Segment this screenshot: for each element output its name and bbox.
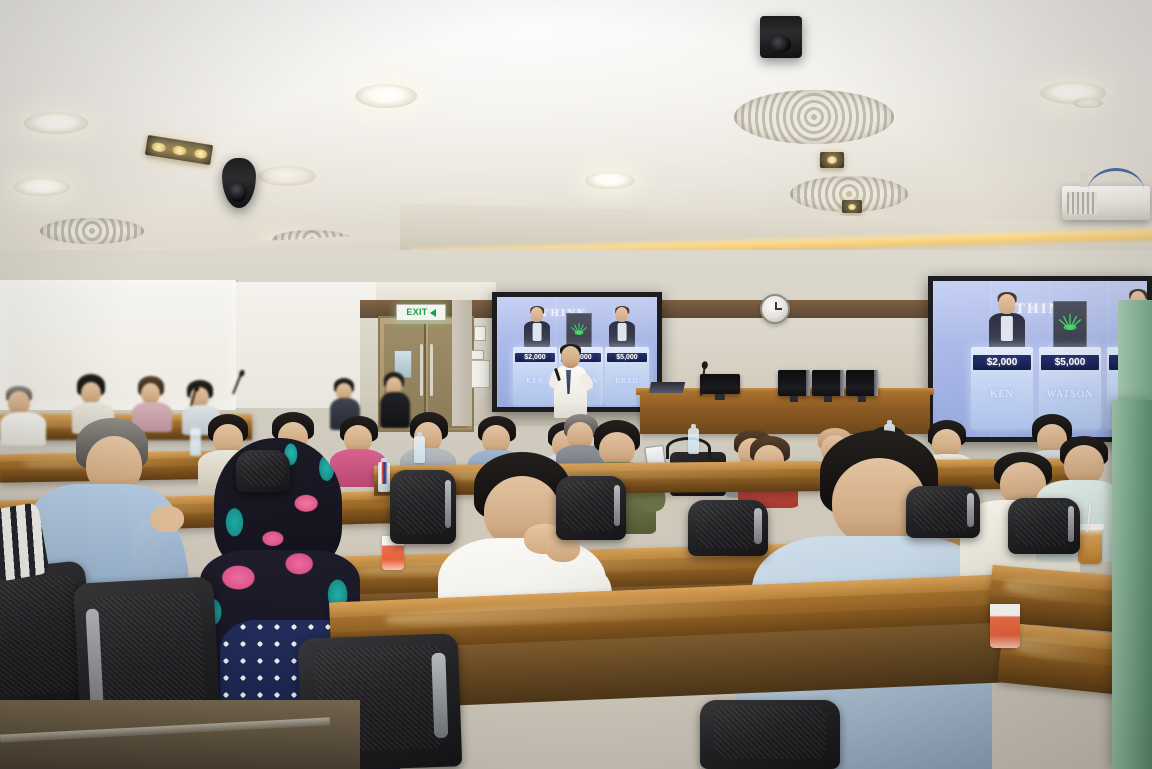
track-spotlight [842,200,862,213]
soda-can [378,462,388,484]
iced-coffee-cup [1078,528,1102,564]
podium-score: $5,000 [607,353,648,362]
office-chair[interactable] [688,500,768,556]
wall-column [452,300,472,426]
recessed-downlight [24,112,88,134]
watson-threads-icon [1058,308,1081,335]
podium-name: BRAD [607,377,648,385]
lecture-hall-photo: EXIT THINK [0,0,1152,769]
paper-cup [990,604,1020,648]
cup-lid [1076,524,1104,530]
exit-sign-label: EXIT [406,308,427,317]
water-bottle [414,436,425,463]
wall-control-panel[interactable] [470,360,490,388]
watson-threads-icon [570,318,587,338]
contestant-ken [989,313,1025,349]
watson-avatar [1053,301,1087,349]
exit-arrow-icon [430,309,436,317]
contestant-shirt [1001,316,1013,341]
office-chair[interactable] [700,700,840,769]
presenter-head [561,346,580,368]
podium-name: KEN [973,389,1030,400]
track-spotlight [820,152,844,168]
monitor [778,370,810,396]
podium-score: $2,000 [973,355,1030,370]
office-chair[interactable] [906,486,980,538]
presenter [548,344,592,418]
contestant-shirt [618,323,627,341]
recessed-downlight [14,178,70,196]
contestant-shirt [533,323,542,341]
green-wall-column [1118,300,1152,404]
ceiling-projector [1062,186,1150,220]
office-chair[interactable] [1008,498,1080,554]
office-chair[interactable] [556,476,626,540]
contestant-head [998,294,1015,313]
door-handle[interactable] [420,344,423,396]
attendee-head [1064,445,1104,485]
attendee-hand [150,506,184,532]
contestant-ken [524,321,550,347]
laptop[interactable] [649,382,685,393]
wall-clock [760,294,790,324]
water-bottle [688,428,699,454]
recessed-downlight [355,84,417,108]
podium-name: WATSON [1041,389,1098,400]
monitor [812,370,844,396]
attendee-head [141,383,160,404]
contestant-head [531,307,543,321]
green-wall-column [1112,400,1152,769]
recessed-downlight [1073,98,1103,108]
door-handle[interactable] [430,344,433,396]
projector-mount [1080,172,1088,188]
office-chair[interactable] [390,470,456,544]
contestant-head [616,307,628,321]
dome-security-camera [760,16,802,58]
recessed-downlight [585,172,635,189]
exit-sign: EXIT [396,304,446,321]
light-switch-plate[interactable] [470,350,484,360]
projector-vent [1067,192,1097,214]
monitor [700,374,740,394]
office-chair[interactable] [236,450,290,492]
wall-notice [474,326,486,341]
attendee-head [81,382,101,404]
recessed-downlight [258,166,316,186]
circular-air-diffuser [734,90,894,144]
podium-score: $5,000 [1041,355,1098,370]
contestant-brad [609,321,635,347]
circular-air-diffuser [40,218,144,244]
monitor [846,370,878,396]
